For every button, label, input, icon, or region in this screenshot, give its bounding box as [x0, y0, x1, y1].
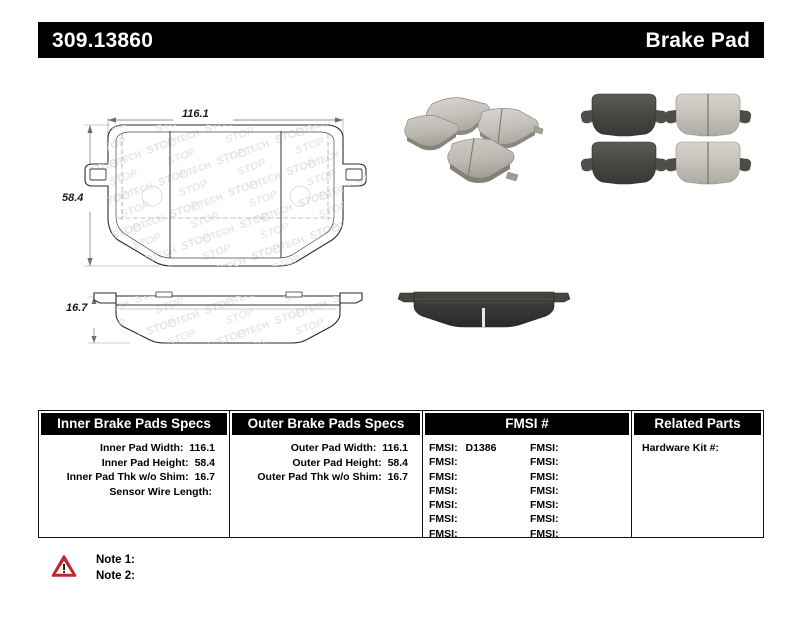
table-row: FMSI:: [530, 512, 631, 526]
spec-value: 116.1: [382, 442, 408, 454]
pad-photo-item: [665, 142, 751, 184]
fmsi-value: D1386: [466, 442, 497, 454]
spec-label: Inner Pad Thk w/o Shim:: [67, 471, 189, 483]
spec-value: 58.4: [195, 457, 215, 469]
column-header-inner-specs: Inner Brake Pads Specs: [41, 413, 227, 435]
fmsi-label: FMSI:: [530, 528, 559, 540]
fmsi-label: FMSI:: [530, 499, 559, 511]
related-part-label: Hardware Kit #:: [642, 442, 719, 454]
dimension-width-label: 116.1: [182, 108, 209, 120]
fmsi-label: FMSI:: [429, 528, 458, 540]
column-body-outer-specs: Outer Pad Width: 116.1 Outer Pad Height:…: [230, 437, 422, 499]
table-row: FMSI:: [530, 498, 631, 512]
table-row: FMSI:: [429, 498, 530, 512]
warning-triangle-icon: [52, 555, 76, 577]
table-row: Outer Pad Width: 116.1: [230, 441, 422, 456]
spec-value: 58.4: [388, 457, 408, 469]
pad-photo-item: [665, 94, 751, 136]
pad-photo-item: [581, 142, 667, 184]
table-row: FMSI:: [429, 527, 530, 541]
note-item: Note 1:: [96, 552, 135, 568]
pad-top-view: [85, 125, 370, 270]
spec-label: Outer Pad Width:: [291, 442, 377, 454]
spec-label: Outer Pad Thk w/o Shim:: [257, 471, 381, 483]
table-row: FMSI:: [530, 484, 631, 498]
fmsi-label: FMSI:: [530, 485, 559, 497]
table-row: FMSI:: [429, 512, 530, 526]
dimension-height-label: 58.4: [62, 192, 83, 204]
column-header-outer-specs: Outer Brake Pads Specs: [232, 413, 420, 435]
spec-label: Inner Pad Width:: [100, 442, 183, 454]
table-row: Outer Pad Thk w/o Shim: 16.7: [230, 470, 422, 485]
fmsi-label: FMSI:: [530, 442, 559, 454]
spec-label: Sensor Wire Length:: [109, 486, 212, 498]
notes-list: Note 1: Note 2:: [96, 552, 135, 584]
table-row: FMSI:: [429, 455, 530, 469]
table-row: FMSI:: [429, 470, 530, 484]
dimension-thickness-label: 16.7: [66, 302, 87, 314]
table-row: FMSI:: [530, 455, 631, 469]
pad-side-view: [94, 290, 362, 350]
fmsi-subcolumn-right: FMSI: FMSI: FMSI: FMSI: FMSI:: [530, 441, 631, 541]
column-header-related-parts: Related Parts: [634, 413, 761, 435]
table-row: FMSI:: [429, 484, 530, 498]
spec-value: 116.1: [189, 442, 215, 454]
fmsi-label: FMSI:: [429, 499, 458, 511]
specifications-table: Inner Brake Pads Specs Inner Pad Width: …: [38, 410, 764, 538]
table-row: Sensor Wire Length:: [39, 485, 229, 500]
technical-drawing: 116.1 58.4 16.7 STOP TECH STOP: [60, 100, 400, 360]
table-column-outer-specs: Outer Brake Pads Specs Outer Pad Width: …: [229, 411, 422, 537]
table-row: FMSI: D1386: [429, 441, 530, 455]
photo-brake-pad-edge: [392, 282, 578, 334]
table-row: [230, 485, 422, 500]
photo-brake-pads-front-back: [578, 86, 760, 190]
table-row: Outer Pad Height: 58.4: [230, 456, 422, 471]
fmsi-label: FMSI:: [429, 442, 458, 454]
column-body-related-parts: Hardware Kit #:: [632, 437, 763, 456]
note-item: Note 2:: [96, 568, 135, 584]
table-column-fmsi: FMSI # FMSI: D1386 FMSI: FMSI: FMSI:: [422, 411, 631, 537]
product-type-title: Brake Pad: [645, 30, 750, 51]
table-column-related-parts: Related Parts Hardware Kit #:: [631, 411, 763, 537]
spec-label: Inner Pad Height:: [102, 457, 189, 469]
note-label: Note 1:: [96, 554, 135, 566]
spec-label: Outer Pad Height:: [292, 457, 381, 469]
spec-value: 16.7: [388, 471, 408, 483]
table-row: Inner Pad Thk w/o Shim: 16.7: [39, 470, 229, 485]
fmsi-label: FMSI:: [530, 471, 559, 483]
fmsi-label: FMSI:: [429, 456, 458, 468]
table-row: Inner Pad Width: 116.1: [39, 441, 229, 456]
table-row: FMSI:: [530, 527, 631, 541]
table-row: Hardware Kit #:: [632, 441, 763, 456]
table-column-inner-specs: Inner Brake Pads Specs Inner Pad Width: …: [39, 411, 229, 537]
pad-photo-item: [581, 94, 667, 136]
table-row: FMSI:: [530, 441, 631, 455]
table-row: FMSI:: [530, 470, 631, 484]
column-header-fmsi: FMSI #: [425, 413, 629, 435]
fmsi-label: FMSI:: [429, 471, 458, 483]
fmsi-label: FMSI:: [429, 485, 458, 497]
fmsi-label: FMSI:: [429, 513, 458, 525]
fmsi-subcolumn-left: FMSI: D1386 FMSI: FMSI: FMSI: FMSI:: [429, 441, 530, 541]
table-row: Inner Pad Height: 58.4: [39, 456, 229, 471]
part-number: 309.13860: [52, 30, 153, 51]
notes-section: Note 1: Note 2:: [52, 552, 135, 584]
fmsi-label: FMSI:: [530, 513, 559, 525]
photo-brake-pads-angled: [402, 82, 570, 188]
fmsi-label: FMSI:: [530, 456, 559, 468]
column-body-inner-specs: Inner Pad Width: 116.1 Inner Pad Height:…: [39, 437, 229, 499]
drawing-svg: STOP TECH STOP: [60, 100, 400, 360]
header-bar: 309.13860 Brake Pad: [38, 22, 764, 58]
spec-value: 16.7: [195, 471, 215, 483]
pad-photo-item: [398, 292, 570, 327]
column-body-fmsi: FMSI: D1386 FMSI: FMSI: FMSI: FMSI:: [423, 437, 631, 541]
note-label: Note 2:: [96, 570, 135, 582]
